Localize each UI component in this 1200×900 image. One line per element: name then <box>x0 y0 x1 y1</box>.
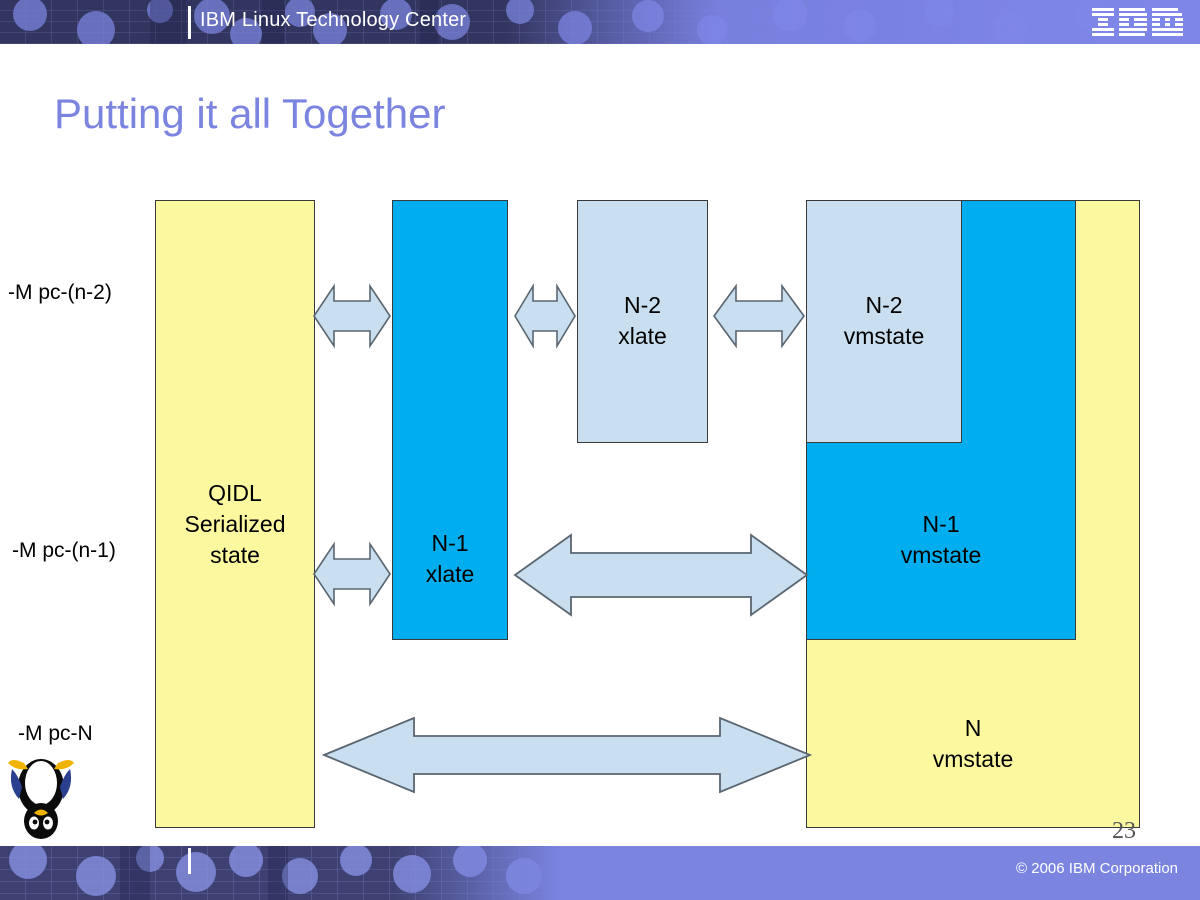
box-n2-vmstate-label: N-2 vmstate <box>806 290 962 352</box>
arrow-qidl-to-n1-xlate-top <box>312 281 392 351</box>
arrow-qidl-to-n1-xlate-mid <box>312 539 392 609</box>
arrow-n1-xlate-to-n2-xlate <box>513 281 577 351</box>
page-number: 23 <box>1112 818 1136 845</box>
side-label-pc-N: -M pc-N <box>18 722 93 746</box>
diagram-canvas: QIDL Serialized state N-1 xlate N-2 xlat… <box>0 0 1200 900</box>
footer-divider <box>188 848 191 874</box>
box-n-vmstate-label: N vmstate <box>806 713 1140 775</box>
side-label-pc-n-2: -M pc-(n-2) <box>8 281 112 305</box>
side-label-pc-n-1: -M pc-(n-1) <box>12 539 116 563</box>
box-n1-vmstate-label: N-1 vmstate <box>806 509 1076 571</box>
arrow-n2-xlate-to-n2-vmstate <box>712 281 806 351</box>
box-n2-xlate-label: N-2 xlate <box>577 290 708 352</box>
footer-texture <box>0 846 560 900</box>
slide-footer: © 2006 IBM Corporation <box>0 846 1200 900</box>
tux-penguin-icon <box>2 755 80 843</box>
arrow-n1-xlate-to-n1-vmstate <box>513 529 809 621</box>
footer-copyright: © 2006 IBM Corporation <box>1016 860 1178 877</box>
box-n1-xlate-label: N-1 xlate <box>392 528 508 590</box>
arrow-qidl-to-n-vmstate <box>322 712 812 798</box>
box-qidl-label: QIDL Serialized state <box>155 478 315 571</box>
